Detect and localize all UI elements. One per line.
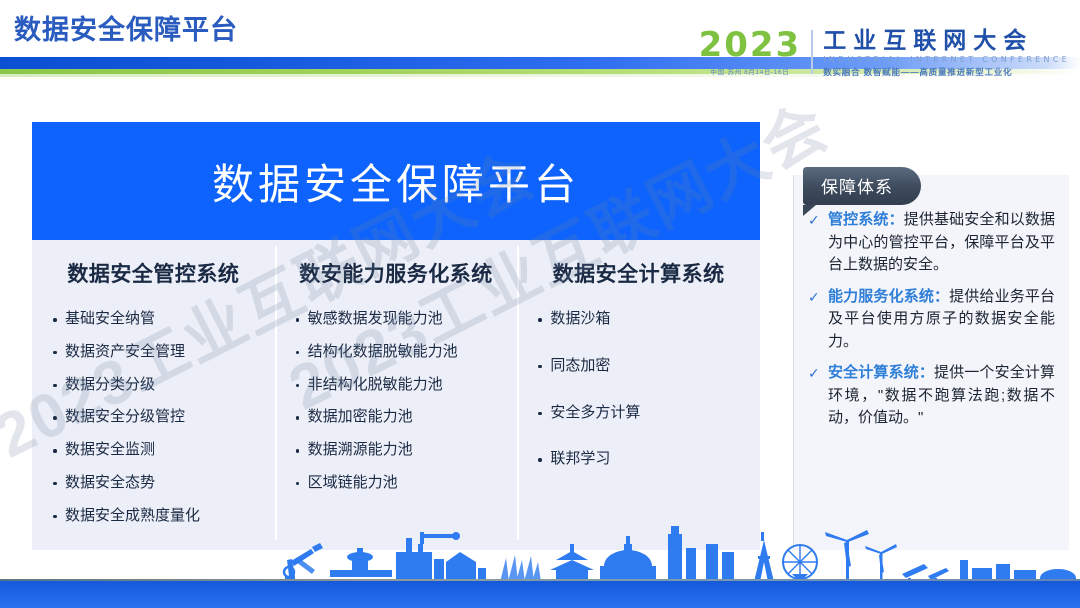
logo-divider [811, 30, 813, 74]
list-item: 区域链能力池 [295, 474, 504, 493]
list-item: 数据资产安全管理 [52, 343, 261, 362]
status-badge: 保障体系 [803, 167, 921, 205]
skyline-icon [0, 526, 1080, 582]
check-icon: ✓ [808, 363, 820, 384]
list-item: 数据安全态势 [52, 474, 261, 493]
list-item: 数据安全分级管控 [52, 408, 261, 427]
item-lead: 安全计算系统： [828, 364, 934, 381]
list-item: 同态加密 [537, 357, 746, 376]
logo-year-block: 2023 中国·苏州 8月14日-16日 [699, 28, 802, 76]
footer-band [0, 579, 1080, 608]
slide-root: 数据安全保障平台 2023 中国·苏州 8月14日-16日 工业互联网大会 IN… [0, 0, 1080, 608]
column-item-list: 基础安全纳管 数据资产安全管理 数据分类分级 数据安全分级管控 数据安全监测 数… [46, 310, 261, 525]
logo-year: 2023 [699, 28, 802, 62]
platform-card-header: 数据安全保障平台 [32, 122, 760, 240]
list-item: 数据加密能力池 [295, 408, 504, 427]
column-data-security-control: 数据安全管控系统 基础安全纳管 数据资产安全管理 数据分类分级 数据安全分级管控… [32, 240, 275, 550]
list-item: 数据分类分级 [52, 376, 261, 395]
platform-card: 数据安全保障平台 数据安全管控系统 基础安全纳管 数据资产安全管理 数据分类分级… [32, 122, 760, 550]
list-item: 非结构化脱敏能力池 [295, 376, 504, 395]
list-item: 数据溯源能力池 [295, 441, 504, 460]
list-item: 基础安全纳管 [52, 310, 261, 329]
item-lead: 管控系统： [828, 211, 904, 228]
column-secure-computing: 数据安全计算系统 数据沙箱 同态加密 安全多方计算 联邦学习 [517, 240, 760, 550]
column-item-list: 数据沙箱 同态加密 安全多方计算 联邦学习 [531, 310, 746, 469]
list-item: 联邦学习 [537, 450, 746, 469]
list-item: 安全多方计算 [537, 404, 746, 423]
column-title: 数安能力服务化系统 [289, 258, 504, 288]
logo-name-cn: 工业互联网大会 [823, 28, 1070, 52]
column-title: 数据安全计算系统 [531, 258, 746, 288]
guarantee-item-list: ✓ 管控系统：提供基础安全和以数据为中心的管控平台，保障平台及平台上数据的安全。… [808, 209, 1055, 430]
list-item: 数据安全监测 [52, 441, 261, 460]
page-title: 数据安全保障平台 [14, 16, 238, 46]
list-item: 数据沙箱 [537, 310, 746, 329]
platform-card-title: 数据安全保障平台 [212, 151, 580, 212]
logo-slogan: 数实融合 数智赋能——高质量推进新型工业化 [823, 66, 1070, 78]
item-lead: 能力服务化系统： [828, 288, 949, 305]
list-item: ✓ 管控系统：提供基础安全和以数据为中心的管控平台，保障平台及平台上数据的安全。 [808, 209, 1055, 277]
logo-date: 中国·苏州 8月14日-16日 [711, 66, 790, 76]
column-title: 数据安全管控系统 [46, 258, 261, 288]
column-item-list: 敏感数据发现能力池 结构化数据脱敏能力池 非结构化脱敏能力池 数据加密能力池 数… [289, 310, 504, 493]
logo-name-block: 工业互联网大会 INDUSTRIAL INTERNET CONFERENCE 数… [823, 28, 1070, 78]
list-item: 敏感数据发现能力池 [295, 310, 504, 329]
platform-columns: 数据安全管控系统 基础安全纳管 数据资产安全管理 数据分类分级 数据安全分级管控… [32, 240, 760, 550]
conference-logo: 2023 中国·苏州 8月14日-16日 工业互联网大会 INDUSTRIAL … [699, 28, 1070, 78]
logo-name-en: INDUSTRIAL INTERNET CONFERENCE [823, 55, 1070, 64]
list-item: ✓ 安全计算系统：提供一个安全计算环境，"数据不跑算法跑;数据不动，价值动。" [808, 362, 1055, 430]
footer-decoration [0, 528, 1080, 608]
guarantee-system-panel: ✓ 管控系统：提供基础安全和以数据为中心的管控平台，保障平台及平台上数据的安全。… [793, 175, 1069, 550]
list-item: ✓ 能力服务化系统：提供给业务平台及平台使用方原子的数据安全能力。 [808, 286, 1055, 354]
column-capability-service: 数安能力服务化系统 敏感数据发现能力池 结构化数据脱敏能力池 非结构化脱敏能力池… [275, 240, 518, 550]
check-icon: ✓ [808, 287, 820, 308]
list-item: 数据安全成熟度量化 [52, 507, 261, 526]
list-item: 结构化数据脱敏能力池 [295, 343, 504, 362]
